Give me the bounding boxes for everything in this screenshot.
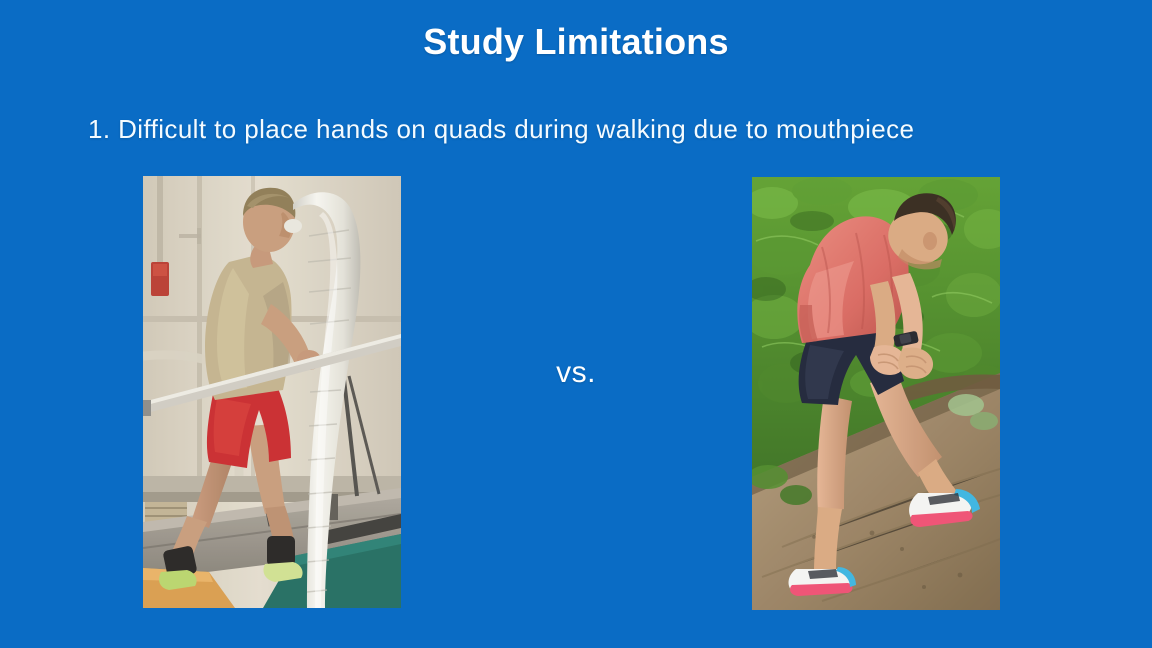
trail-runner-illustration [752,177,1000,610]
treadmill-lab-illustration [143,176,401,608]
photo-trail-runner [752,177,1000,610]
photo-treadmill-lab [143,176,401,608]
limitation-bullet-1: 1. Difficult to place hands on quads dur… [88,112,1068,146]
slide-canvas: Study Limitations 1. Difficult to place … [0,0,1152,648]
page-title: Study Limitations [0,18,1152,66]
